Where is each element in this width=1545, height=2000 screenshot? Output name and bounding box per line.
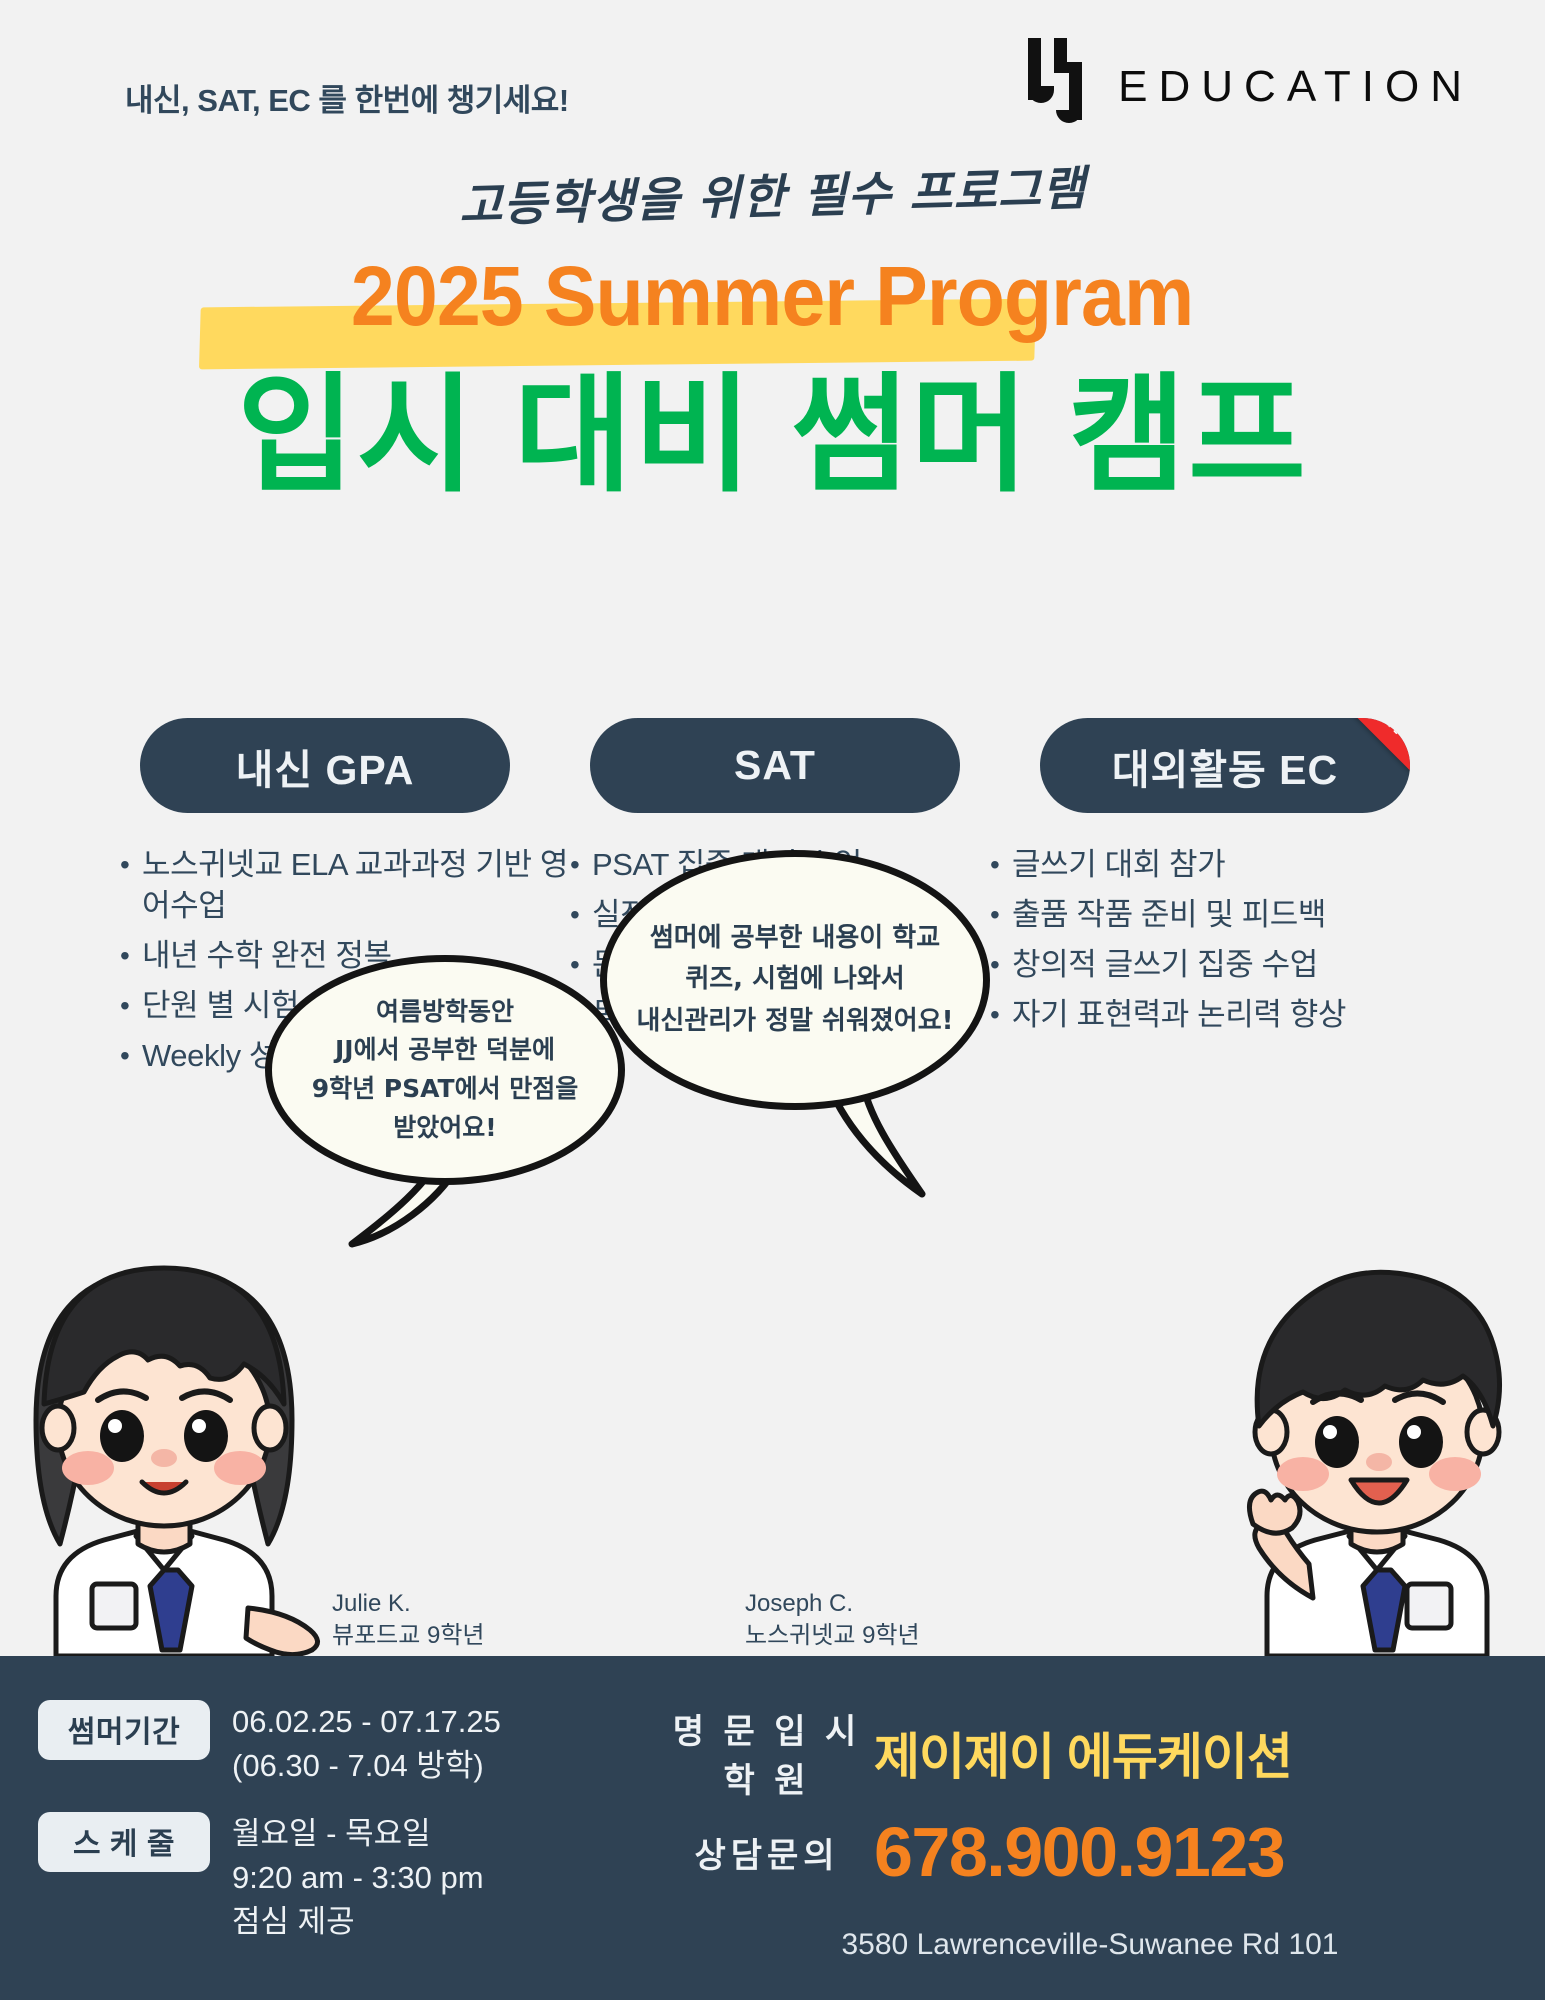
testimonial-caption-right: Joseph C. 노스귀넷교 9학년 [745, 1588, 920, 1653]
footer-contact-label: 상담문의 [660, 1828, 874, 1877]
new-ribbon-label: NEW [1356, 718, 1410, 742]
footer-address: 3580 Lawrenceville-Suwanee Rd 101 [660, 1928, 1520, 1962]
footer-contact-block: 명 문 입 시 학 원 제이제이 에듀케이션 상담문의 678.900.9123 [660, 1704, 1520, 1902]
summer-program-title: 2025 Summer Program [351, 248, 1193, 345]
list-item: •출품 작품 준비 및 피드백 [990, 895, 1430, 936]
jj-monogram-icon [1024, 38, 1102, 135]
bullet-dot-icon: • [570, 945, 592, 986]
testimonial-name-right: Joseph C. [745, 1588, 920, 1620]
logo-wordmark: EDUCATION [1118, 62, 1473, 112]
footer-tag-period: 썸머기간 [38, 1700, 210, 1760]
bullet-dot-icon: • [990, 895, 1012, 936]
pill-ec-label: 대외활동 EC [1112, 736, 1338, 796]
list-item: •노스귀넷교 ELA 교과과정 기반 영어수업 [120, 845, 570, 927]
pill-ec[interactable]: 대외활동 EC NEW [1040, 718, 1410, 813]
bullet-dot-icon: • [990, 995, 1012, 1036]
poster-root: 내신, SAT, EC 를 한번에 챙기세요! EDUCATION 고등학생을 … [0, 0, 1545, 2000]
bullet-dot-icon: • [120, 986, 142, 1027]
testimonial-quote-left: 여름방학동안 JJ에서 공부한 덕분에 9학년 PSAT에서 만점을 받았어요! [294, 993, 597, 1148]
testimonial-school-right: 노스귀넷교 9학년 [745, 1620, 920, 1652]
bullet-dot-icon: • [120, 845, 142, 927]
testimonial-bubble-right: 썸머에 공부한 내용이 학교 퀴즈, 시험에 나와서 내신관리가 정말 쉬워졌어… [600, 850, 990, 1110]
footer-academy-label: 명 문 입 시 학 원 [660, 1704, 874, 1802]
testimonial-caption-left: Julie K. 뷰포드교 9학년 [332, 1588, 485, 1653]
footer-tag-schedule: 스 케 줄 [38, 1812, 210, 1872]
hero-script-line: 고등학생을 위한 필수 프로그램 [0, 136, 1545, 248]
pill-gpa[interactable]: 내신 GPA [140, 718, 510, 813]
header-tagline: 내신, SAT, EC 를 한번에 챙기세요! [125, 75, 569, 120]
column-ec: •글쓰기 대회 참가 •출품 작품 준비 및 피드백 •창의적 글쓰기 집중 수… [990, 845, 1430, 1086]
pill-sat-label: SAT [734, 742, 816, 789]
footer-academy-name: 제이제이 에듀케이션 [874, 1717, 1292, 1789]
brand-logo: EDUCATION [1024, 38, 1473, 135]
testimonial-name-left: Julie K. [332, 1588, 485, 1620]
footer-row-academy: 명 문 입 시 학 원 제이제이 에듀케이션 [660, 1704, 1520, 1802]
pill-gpa-label: 내신 GPA [236, 736, 415, 796]
list-item: •글쓰기 대회 참가 [990, 845, 1430, 886]
footer-bar: 썸머기간 06.02.25 - 07.17.25 (06.30 - 7.04 방… [0, 1656, 1545, 2000]
footer-row-schedule: 스 케 줄 월요일 - 목요일 9:20 am - 3:30 pm 점심 제공 [38, 1812, 658, 1944]
pill-sat[interactable]: SAT [590, 718, 960, 813]
bullet-dot-icon: • [120, 936, 142, 977]
footer-value-schedule: 월요일 - 목요일 9:20 am - 3:30 pm 점심 제공 [232, 1812, 484, 1944]
page-title: 입시 대비 썸머 캠프 [0, 360, 1545, 511]
program-pill-row: 내신 GPA SAT 대외활동 EC NEW [140, 718, 1410, 813]
footer-row-phone: 상담문의 678.900.9123 [660, 1812, 1520, 1892]
testimonial-quote-right: 썸머에 공부한 내용이 학교 퀴즈, 시험에 나와서 내신관리가 정말 쉬워졌어… [618, 918, 971, 1043]
footer-row-period: 썸머기간 06.02.25 - 07.17.25 (06.30 - 7.04 방… [38, 1700, 658, 1788]
testimonial-school-left: 뷰포드교 9학년 [332, 1620, 485, 1652]
summer-title-group: 2025 Summer Program [0, 248, 1545, 358]
boy-student-avatar [1209, 1236, 1545, 1656]
bullet-dot-icon: • [120, 1036, 142, 1077]
girl-student-avatar [0, 1236, 336, 1656]
bullet-dot-icon: • [990, 945, 1012, 986]
list-item: •창의적 글쓰기 집중 수업 [990, 945, 1430, 986]
bullet-dot-icon: • [570, 895, 592, 936]
bullet-dot-icon: • [570, 845, 592, 886]
footer-value-period: 06.02.25 - 07.17.25 (06.30 - 7.04 방학) [232, 1700, 501, 1788]
testimonial-bubble-left: 여름방학동안 JJ에서 공부한 덕분에 9학년 PSAT에서 만점을 받았어요! [265, 955, 625, 1185]
bullet-dot-icon: • [990, 845, 1012, 886]
list-item: •자기 표현력과 논리력 향상 [990, 995, 1430, 1036]
footer-schedule-block: 썸머기간 06.02.25 - 07.17.25 (06.30 - 7.04 방… [38, 1700, 658, 1968]
footer-phone-number[interactable]: 678.900.9123 [874, 1812, 1284, 1892]
